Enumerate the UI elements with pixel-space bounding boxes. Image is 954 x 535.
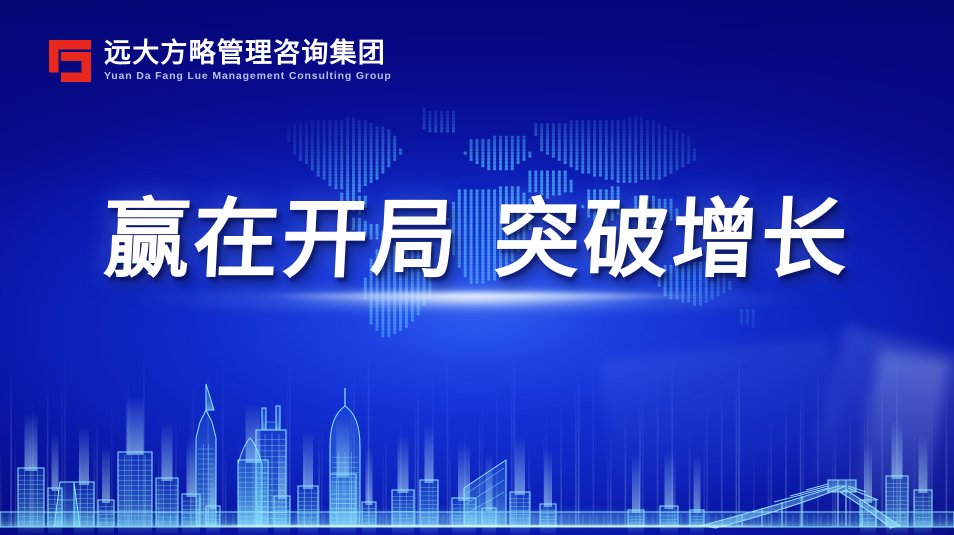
poster-canvas: 远大方略管理咨询集团 Yuan Da Fang Lue Management C…	[0, 0, 954, 535]
brand-logo-text: 远大方略管理咨询集团 Yuan Da Fang Lue Management C…	[104, 39, 392, 83]
headline-part-1: 赢在开局	[101, 190, 462, 290]
ground-line	[168, 525, 788, 527]
brand-logo[interactable]: 远大方略管理咨询集团 Yuan Da Fang Lue Management C…	[47, 38, 392, 84]
company-name-cn: 远大方略管理咨询集团	[104, 39, 392, 69]
headline-part-2: 突破增长	[491, 190, 852, 290]
ground-glow	[120, 509, 840, 535]
page-title: 赢在开局突破增长	[0, 188, 954, 292]
company-name-en: Yuan Da Fang Lue Management Consulting G…	[104, 69, 392, 83]
square-spiral-logo-icon	[47, 38, 93, 84]
